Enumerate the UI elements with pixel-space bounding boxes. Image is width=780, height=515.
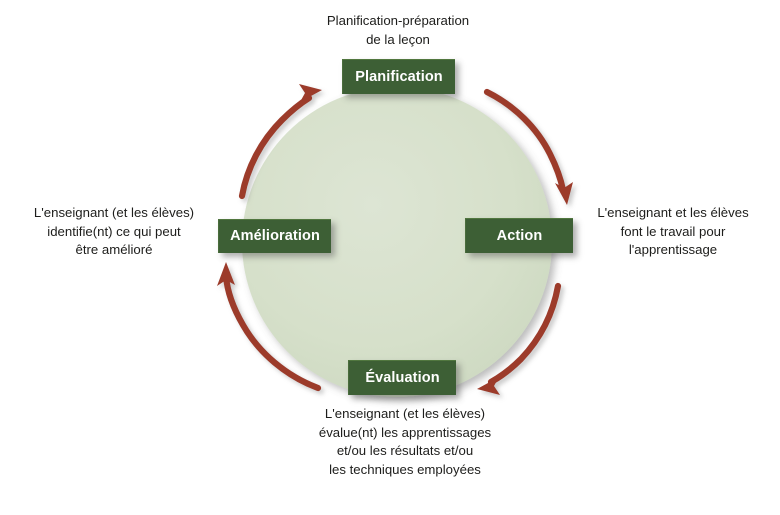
caption-line: Planification-préparation	[268, 12, 528, 31]
caption-planification: Planification-préparation de la leçon	[268, 12, 528, 49]
caption-line: de la leçon	[268, 31, 528, 50]
stage-box-evaluation[interactable]: Évaluation	[348, 360, 456, 395]
caption-line: identifie(nt) ce qui peut	[14, 223, 214, 242]
stage-box-action[interactable]: Action	[465, 218, 573, 253]
stage-box-planification[interactable]: Planification	[342, 59, 455, 94]
stage-label-amelioration: Amélioration	[230, 229, 320, 244]
stage-label-planification: Planification	[355, 70, 443, 85]
caption-action: L'enseignant et les élèves font le trava…	[578, 204, 768, 260]
stage-box-amelioration[interactable]: Amélioration	[218, 219, 331, 253]
arrow-evaluation-to-amelioration	[217, 262, 318, 388]
stage-label-evaluation: Évaluation	[365, 371, 439, 386]
caption-line: L'enseignant et les élèves	[578, 204, 768, 223]
caption-amelioration: L'enseignant (et les élèves) identifie(n…	[14, 204, 214, 260]
arrow-amelioration-to-planification	[242, 84, 322, 196]
arrow-planification-to-action	[487, 92, 573, 205]
caption-line: L'enseignant (et les élèves)	[14, 204, 214, 223]
caption-line: et/ou les résultats et/ou	[290, 442, 520, 461]
stage-label-action: Action	[497, 229, 543, 244]
caption-line: les techniques employées	[290, 461, 520, 480]
caption-line: évalue(nt) les apprentissages	[290, 424, 520, 443]
diagram-canvas: Planification Action Évaluation Améliora…	[0, 0, 780, 515]
arrow-action-to-evaluation	[477, 286, 558, 395]
caption-line: L'enseignant (et les élèves)	[290, 405, 520, 424]
caption-line: font le travail pour	[578, 223, 768, 242]
caption-line: être amélioré	[14, 241, 214, 260]
caption-evaluation: L'enseignant (et les élèves) évalue(nt) …	[290, 405, 520, 479]
caption-line: l'apprentissage	[578, 241, 768, 260]
